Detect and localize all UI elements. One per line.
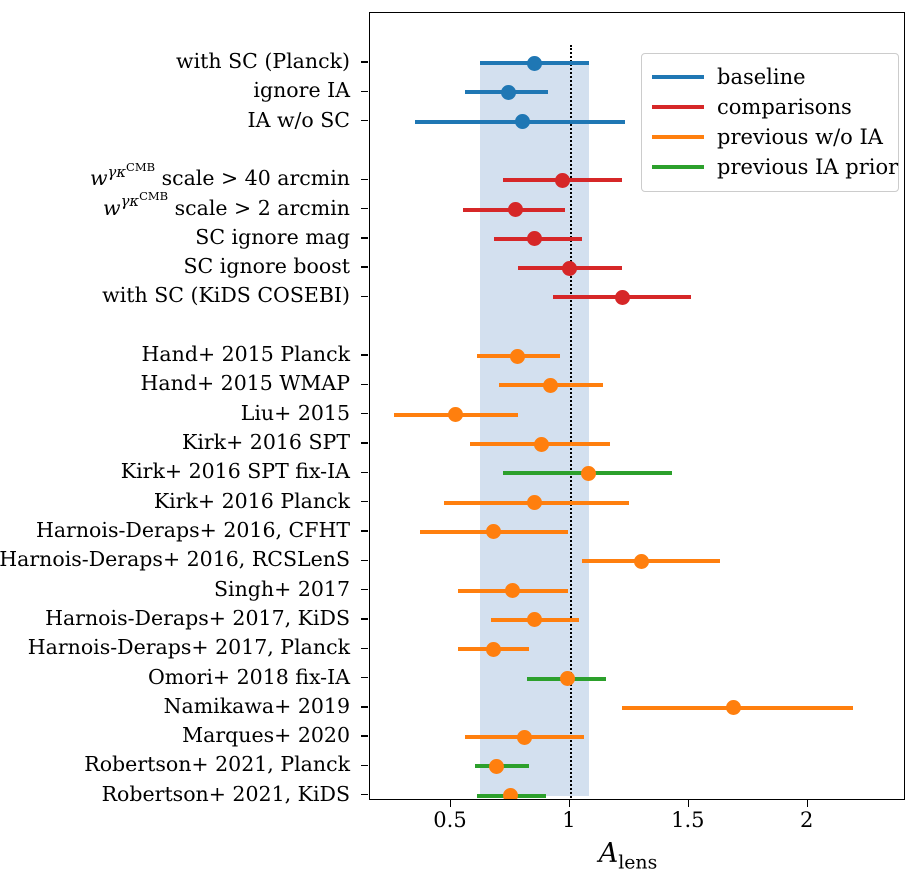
y-tick-mark (361, 472, 368, 473)
y-tick-label: Kirk+ 2016 SPT (182, 432, 361, 453)
y-tick-mark (361, 765, 368, 766)
y-tick-label: Hand+ 2015 WMAP (141, 373, 361, 394)
y-tick-mark (361, 618, 368, 619)
y-tick-label: wγκCMB scale > 2 arcmin (103, 197, 361, 218)
data-point-marker (486, 642, 501, 657)
data-point-marker (508, 202, 523, 217)
y-tick-label: Hand+ 2015 Planck (142, 344, 361, 365)
y-tick-label: with SC (KiDS COSEBI) (102, 285, 361, 306)
legend-item-comparisons[interactable]: comparisons (652, 92, 888, 122)
y-tick-label: wγκCMB scale > 40 arcmin (90, 167, 361, 188)
data-point-marker (527, 495, 542, 510)
y-tick-mark (361, 648, 368, 649)
y-tick-mark (361, 589, 368, 590)
y-tick-mark (361, 560, 368, 561)
error-bar (582, 559, 720, 563)
legend-label: baseline (717, 67, 806, 88)
x-tick-label: 1 (562, 810, 575, 831)
y-tick-label: Kirk+ 2016 Planck (154, 491, 361, 512)
y-tick-label: Harnois-Deraps+ 2016, RCSLenS (0, 549, 361, 570)
y-tick-label: SC ignore boost (184, 256, 361, 277)
data-point-marker (555, 173, 570, 188)
x-axis-title: Alens (0, 840, 920, 867)
legend-box: baselinecomparisonsprevious w/o IAprevio… (641, 53, 899, 192)
y-tick-label: Omori+ 2018 fix-IA (148, 667, 361, 688)
y-tick-label: Robertson+ 2021, Planck (84, 754, 361, 775)
legend-color-swatch (652, 105, 704, 109)
y-tick-label: Kirk+ 2016 SPT fix-IA (121, 461, 361, 482)
legend-color-swatch (652, 165, 704, 169)
legend-item-previous-ia-prior[interactable]: previous IA prior (652, 152, 888, 182)
forest-plot-figure: with SC (Planck)ignore IAIA w/o SCwγκCMB… (0, 0, 920, 882)
y-tick-label: Singh+ 2017 (214, 579, 361, 600)
data-point-marker (726, 700, 741, 715)
data-point-marker (615, 290, 630, 305)
baseline-confidence-band (480, 63, 589, 796)
y-tick-mark (361, 794, 368, 795)
data-point-marker (527, 56, 542, 71)
y-tick-label: with SC (Planck) (176, 51, 361, 72)
reference-line-unity (570, 45, 572, 799)
y-tick-mark (361, 296, 368, 297)
y-tick-mark (361, 120, 368, 121)
y-tick-label: Harnois-Deraps+ 2017, KiDS (45, 608, 361, 629)
x-tick-label: 2 (800, 810, 813, 831)
y-tick-label: Robertson+ 2021, KiDS (102, 784, 361, 805)
data-point-marker (634, 554, 649, 569)
legend-item-baseline[interactable]: baseline (652, 62, 888, 92)
data-point-marker (527, 231, 542, 246)
data-point-marker (515, 114, 530, 129)
legend-label: comparisons (717, 97, 852, 118)
data-point-marker (534, 437, 549, 452)
data-point-marker (510, 349, 525, 364)
data-point-marker (489, 759, 504, 774)
x-tick-mark (569, 800, 570, 807)
y-tick-mark (361, 354, 368, 355)
y-tick-mark (361, 706, 368, 707)
y-tick-label: Liu+ 2015 (241, 403, 361, 424)
y-tick-label: Namikawa+ 2019 (164, 696, 361, 717)
data-point-marker (560, 671, 575, 686)
y-axis-labels: with SC (Planck)ignore IAIA w/o SCwγκCMB… (0, 0, 361, 882)
y-tick-mark (361, 237, 368, 238)
y-tick-label: ignore IA (253, 80, 361, 101)
x-tick-label: 1.5 (671, 810, 704, 831)
y-tick-mark (361, 501, 368, 502)
y-tick-mark (361, 91, 368, 92)
y-tick-label: Harnois-Deraps+ 2017, Planck (28, 637, 361, 658)
x-axis-title-subscript: lens (618, 851, 657, 873)
data-point-marker (448, 407, 463, 422)
y-tick-mark (361, 384, 368, 385)
legend-color-swatch (652, 135, 704, 139)
y-tick-mark (361, 413, 368, 414)
y-tick-mark (361, 735, 368, 736)
legend-color-swatch (652, 75, 704, 79)
y-tick-mark (361, 530, 368, 531)
x-tick-mark (807, 800, 808, 807)
legend-label: previous w/o IA (717, 127, 883, 148)
y-tick-mark (361, 442, 368, 443)
x-tick-mark (450, 800, 451, 807)
x-tick-mark (688, 800, 689, 807)
data-point-marker (581, 466, 596, 481)
y-tick-mark (361, 208, 368, 209)
x-axis-title-symbol: A (599, 838, 619, 869)
x-tick-label: 0.5 (433, 810, 466, 831)
y-tick-label: SC ignore mag (195, 227, 361, 248)
data-point-marker (562, 261, 577, 276)
data-point-marker (501, 85, 516, 100)
y-tick-mark (361, 179, 368, 180)
y-tick-label: Marques+ 2020 (182, 725, 361, 746)
legend-item-previous-w-o-ia[interactable]: previous w/o IA (652, 122, 888, 152)
y-tick-mark (361, 61, 368, 62)
data-point-marker (503, 788, 518, 799)
y-tick-label: Harnois-Deraps+ 2016, CFHT (36, 520, 361, 541)
y-tick-label: IA w/o SC (248, 110, 361, 131)
y-tick-mark (361, 266, 368, 267)
data-point-marker (517, 730, 532, 745)
legend-label: previous IA prior (717, 157, 898, 178)
y-tick-mark (361, 677, 368, 678)
